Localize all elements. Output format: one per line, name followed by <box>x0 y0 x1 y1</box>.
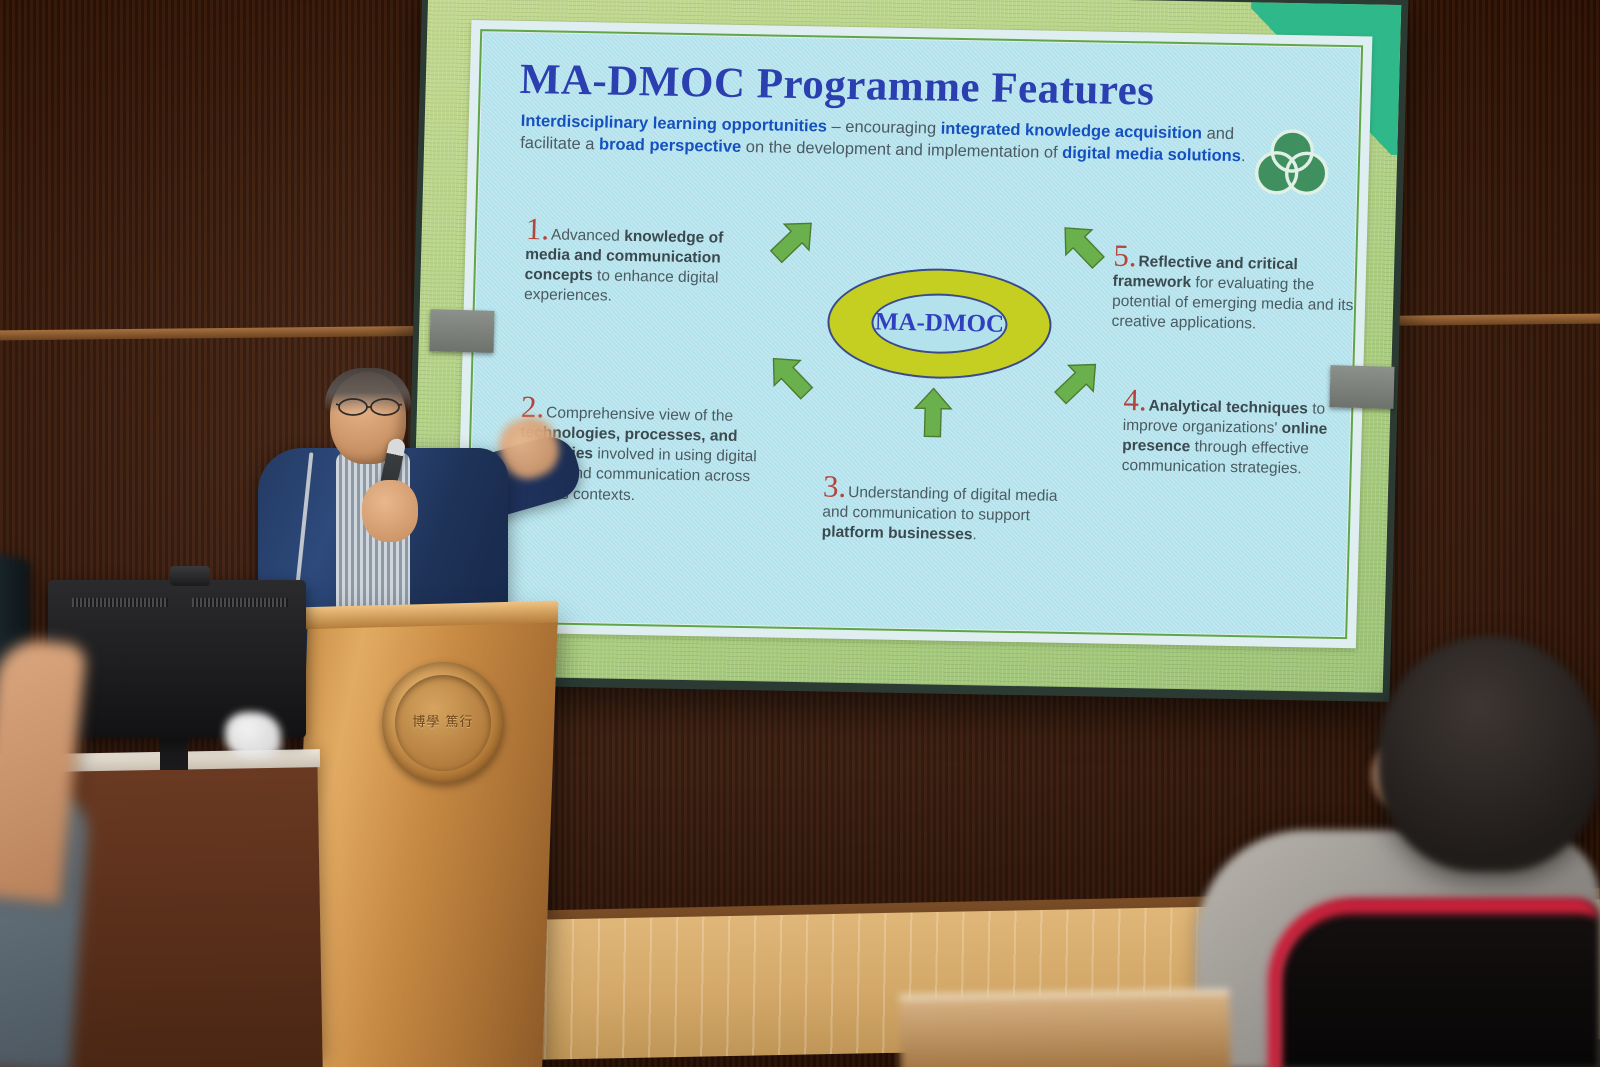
feature-bold-3: platform businesses <box>822 524 973 544</box>
slide-title: MA-DMOC Programme Features <box>519 55 1155 116</box>
audience-desk <box>899 989 1230 1067</box>
center-ring-diagram: MA-DMOC <box>826 267 1053 381</box>
monitor-vent-right <box>192 598 288 607</box>
podium-crest: 博學 篤行 <box>382 662 504 784</box>
slide-intro-paragraph: Interdisciplinary learning opportunities… <box>520 111 1281 169</box>
feature-item-3: 3.Understanding of digital media and com… <box>821 471 1085 548</box>
arrow-down-icon <box>912 386 953 439</box>
monitor-vent-left <box>72 598 168 607</box>
projection-screen: MA-DMOC Programme Features Interdiscipli… <box>404 0 1409 702</box>
feature-number-4: 4. <box>1123 382 1147 417</box>
arrow-up-right-icon <box>1049 213 1114 278</box>
feature-pre-3: Understanding of digital media and commu… <box>822 484 1058 524</box>
feature-bold-4: Analytical techniques <box>1148 397 1308 417</box>
arrow-down-right-icon <box>1045 349 1110 414</box>
tissue-box <box>225 712 281 758</box>
audience-member-head <box>1378 636 1600 872</box>
arrow-up-left-icon <box>761 207 826 272</box>
slide-content-panel: MA-DMOC Programme Features Interdiscipli… <box>467 32 1360 636</box>
feature-pre-2: Comprehensive view of the <box>546 404 733 424</box>
intro-end: . <box>1241 147 1246 165</box>
screen-mount-bracket-right <box>1329 365 1394 409</box>
intro-bold-3: digital media solutions <box>1062 144 1241 165</box>
screen-surface: MA-DMOC Programme Features Interdiscipli… <box>410 0 1401 693</box>
ring-inner-hole: MA-DMOC <box>871 292 1009 354</box>
intro-mid-2: on the development and implementation of <box>741 138 1062 162</box>
feature-item-5: 5.Reflective and critical framework for … <box>1111 240 1360 337</box>
feature-number-1: 1. <box>525 211 549 246</box>
intro-dash: – encouraging <box>827 118 941 138</box>
three-circles-logo-icon <box>1252 126 1332 197</box>
webcam <box>170 566 210 586</box>
feature-number-5: 5. <box>1113 238 1137 273</box>
intro-bold-2: broad perspective <box>599 135 742 156</box>
speaker-glasses-icon <box>336 398 402 416</box>
screen-mount-bracket-left <box>429 309 494 353</box>
feature-number-3: 3. <box>823 469 847 504</box>
feature-item-1: 1.Advanced knowledge of media and commun… <box>524 213 758 310</box>
intro-lead: Interdisciplinary learning opportunities <box>521 112 828 136</box>
speaker-mic-hand <box>362 480 418 542</box>
intro-bold-1: integrated knowledge acquisition <box>940 120 1202 143</box>
feature-item-4: 4.Analytical techniques to improve organ… <box>1121 384 1359 481</box>
slide-outer-frame: MA-DMOC Programme Features Interdiscipli… <box>455 20 1372 648</box>
crest-inner-disc: 博學 篤行 <box>395 675 491 771</box>
ring-label: MA-DMOC <box>875 308 1005 338</box>
feature-post-3: . <box>972 527 977 544</box>
feature-pre-1: Advanced <box>551 226 625 244</box>
audience-chair-red-rim <box>1268 898 1598 1067</box>
lecture-hall-photo: MA-DMOC Programme Features Interdiscipli… <box>0 0 1600 1067</box>
crest-characters: 博學 篤行 <box>412 716 473 730</box>
